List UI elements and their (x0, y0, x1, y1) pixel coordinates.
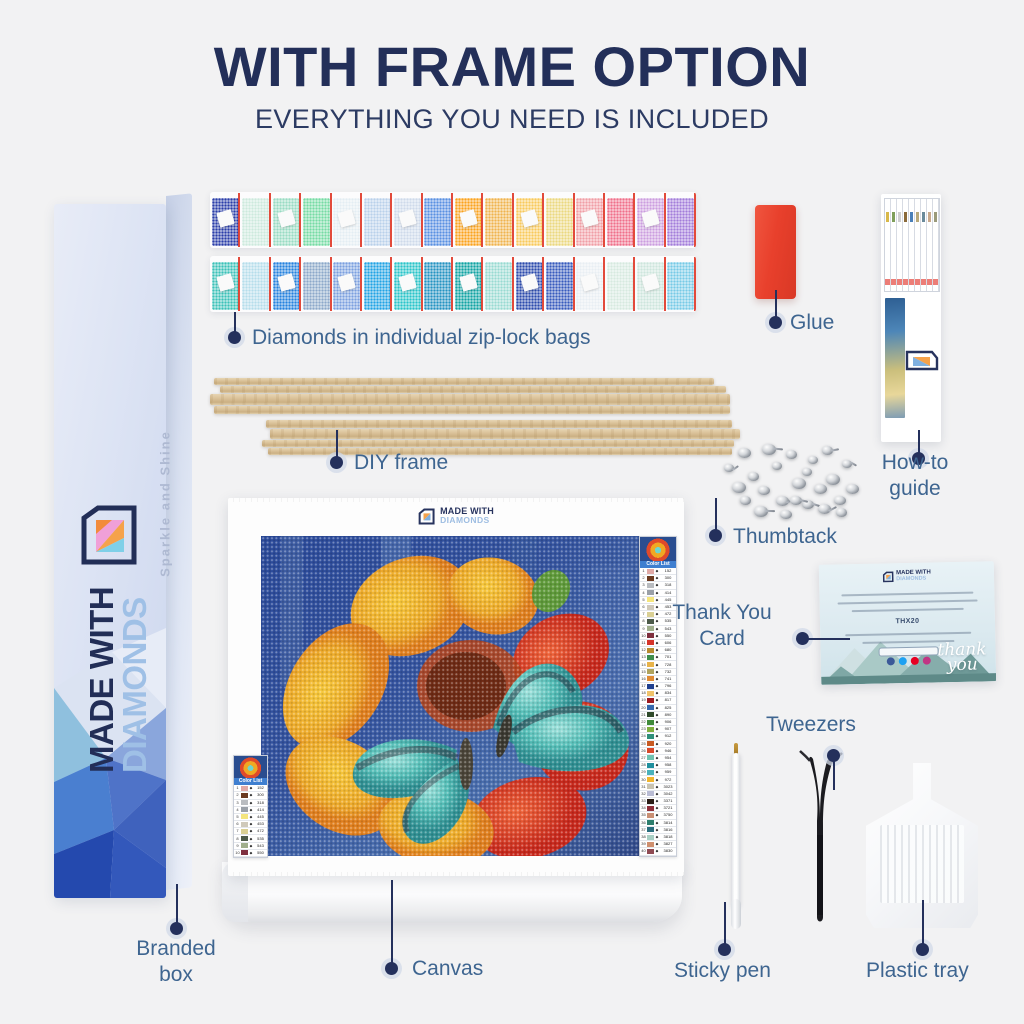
diamond-beads (607, 262, 634, 310)
legend-index: 8 (640, 618, 647, 624)
legend-code: 453 (254, 821, 267, 827)
legend-row: 6◆453 (234, 821, 267, 828)
legend-code: 954 (660, 755, 676, 761)
legend-row: 39◆3827 (640, 841, 676, 848)
legend-index: 17 (640, 683, 647, 689)
legend-code: 825 (660, 705, 676, 711)
box-brand-text: MADE WITH DIAMONDS (85, 204, 151, 773)
legend-swatch (241, 793, 248, 798)
callout-label-sticky-pen: Sticky pen (674, 958, 771, 984)
callout-label-thank-you: Thank You Card (648, 600, 796, 653)
legend-row: 28◆958 (640, 762, 676, 769)
legend-swatch (647, 813, 654, 818)
legend-row: 36◆3814 (640, 820, 676, 827)
legend-code: 817 (660, 697, 676, 703)
legend-index: 15 (640, 669, 647, 675)
legend-swatch (647, 748, 654, 753)
legend-index: 30 (640, 777, 647, 783)
legend-row: 40◆3830 (640, 848, 676, 855)
legend-swatch (647, 849, 654, 854)
legend-swatch (647, 741, 654, 746)
legend-row: 14◆728 (640, 661, 676, 668)
legend-swatch (647, 727, 654, 732)
zip-seal (694, 193, 696, 247)
legend-index: 6 (234, 821, 241, 827)
legend-index: 31 (640, 784, 647, 790)
callout-leader-thank-you (806, 638, 850, 640)
legend-swatch (647, 698, 654, 703)
legend-code: 890 (660, 712, 676, 718)
legend-index: 5 (640, 597, 647, 603)
zip-lock-bag (483, 192, 513, 248)
tweezers (796, 745, 846, 925)
card-logo-icon: MADE WITH DIAMONDS (882, 570, 931, 583)
thumbtack-icon (836, 508, 847, 517)
canvas-artwork (261, 536, 651, 856)
legend-row: 2◆300 (640, 575, 676, 582)
legend-index: 5 (234, 814, 241, 820)
legend-row: 23◆907 (640, 726, 676, 733)
legend-index: 21 (640, 712, 647, 718)
legend-index: 7 (234, 828, 241, 834)
callout-label-tweezers: Tweezers (766, 712, 856, 738)
legend-index: 7 (640, 611, 647, 617)
legend-index: 4 (640, 590, 647, 596)
canvas-item: MADE WITH DIAMONDS (228, 498, 684, 876)
diamond-beads (424, 198, 451, 246)
twitter-icon (898, 657, 906, 665)
zip-lock-bag (666, 192, 696, 248)
legend-code: 3042 (660, 791, 676, 797)
legend-row: 1◆152 (234, 785, 267, 792)
legend-code: 300 (660, 575, 676, 581)
zip-lock-bag (271, 192, 301, 248)
box-brand-line1: MADE WITH (85, 204, 118, 773)
canvas-logo-line2: DIAMONDS (440, 516, 494, 525)
legend-swatch (241, 814, 248, 819)
legend-swatch (647, 842, 654, 847)
legend-index: 12 (640, 647, 647, 653)
zip-seal (694, 257, 696, 311)
legend-row: 7◆472 (234, 828, 267, 835)
diamond-logo-icon (78, 504, 140, 566)
callout-leader-sticky-pen (724, 902, 726, 947)
thumbtack-icon (780, 510, 792, 519)
legend-index: 33 (640, 798, 647, 804)
legend-row: 3◆318 (640, 582, 676, 589)
zip-lock-bag (575, 256, 605, 312)
legend-code: 920 (660, 741, 676, 747)
zip-lock-bag (666, 256, 696, 312)
legend-swatch (241, 807, 248, 812)
legend-row: 32◆3042 (640, 791, 676, 798)
zip-lock-bag (544, 256, 574, 312)
zip-lock-bag (544, 192, 574, 248)
diamond-beads (667, 262, 694, 310)
legend-row: 9◆543 (234, 843, 267, 850)
legend-index: 9 (640, 626, 647, 632)
box-tagline: Sparkle and Shine (158, 409, 173, 599)
legend-row: 25◆920 (640, 741, 676, 748)
zip-lock-bag (332, 256, 362, 312)
callout-label-thumbtack: Thumbtack (733, 524, 837, 550)
legend-swatch (647, 820, 654, 825)
pen-cap (731, 899, 741, 929)
legend-code: 535 (254, 836, 267, 842)
legend-row: 29◆959 (640, 769, 676, 776)
legend-row: 37◆3816 (640, 827, 676, 834)
callout-label-diy-frame: DIY frame (354, 450, 448, 476)
diamond-beads (364, 198, 391, 246)
page-subtitle: EVERYTHING YOU NEED IS INCLUDED (0, 104, 1024, 135)
thumbtack-icon (802, 468, 812, 476)
diamond-beads (667, 198, 694, 246)
legend-row: 19◆817 (640, 697, 676, 704)
legend-row: 16◆741 (640, 676, 676, 683)
zip-lock-bag (453, 192, 483, 248)
legend-row: 27◆954 (640, 755, 676, 762)
zip-lock-bag (605, 256, 635, 312)
legend-code: 152 (660, 568, 676, 574)
zip-lock-bag (240, 192, 270, 248)
zip-lock-bag (483, 256, 513, 312)
legend-index: 39 (640, 841, 647, 847)
zip-lock-bag (362, 192, 392, 248)
thumbtack-icon (846, 484, 859, 494)
legend-row: 24◆912 (640, 733, 676, 740)
legend-code: 946 (660, 748, 676, 754)
legend-index: 34 (640, 805, 647, 811)
diamond-beads (546, 262, 573, 310)
callout-leader-canvas (391, 880, 393, 966)
legend-code: 550 (254, 850, 267, 856)
legend-index: 3 (234, 800, 241, 806)
legend-swatch (647, 734, 654, 739)
diamond-beads (485, 198, 512, 246)
thumbtack-icon (740, 496, 751, 505)
thumbtack-icon (732, 482, 746, 493)
legend-code: 543 (254, 843, 267, 849)
legend-index: 27 (640, 755, 647, 761)
legend-row: 21◆890 (640, 712, 676, 719)
legend-swatch (647, 691, 654, 696)
legend-index: 1 (640, 568, 647, 574)
legend-index: 4 (234, 807, 241, 813)
legend-code: 907 (660, 726, 676, 732)
legend-thumbnail-left (234, 756, 267, 778)
legend-swatch (241, 843, 248, 848)
card-promo-code: THX20 (895, 618, 919, 625)
diamond-beads (364, 262, 391, 310)
legend-row: 20◆825 (640, 705, 676, 712)
legend-row: 18◆834 (640, 690, 676, 697)
zip-lock-bag (210, 192, 240, 248)
instagram-icon (922, 657, 930, 665)
legend-swatch (647, 806, 654, 811)
legend-code: 3371 (660, 798, 676, 804)
legend-row: 31◆3023 (640, 784, 676, 791)
legend-index: 40 (640, 848, 647, 854)
thumbtack-group (718, 438, 858, 530)
legend-code: 3721 (660, 805, 676, 811)
legend-index: 38 (640, 834, 647, 840)
legend-index: 29 (640, 769, 647, 775)
zip-lock-bag (635, 192, 665, 248)
legend-swatch (647, 720, 654, 725)
legend-index: 11 (640, 640, 647, 646)
zip-lock-bag (392, 256, 422, 312)
thumbtack-pin (765, 510, 775, 512)
canvas-logo-icon: MADE WITH DIAMONDS (418, 507, 494, 525)
legend-swatch (647, 669, 654, 674)
legend-row: 10◆550 (234, 850, 267, 857)
legend-code: 3827 (660, 841, 676, 847)
legend-thumbnail (640, 537, 676, 561)
legend-index: 36 (640, 820, 647, 826)
zip-lock-bag (210, 256, 240, 312)
legend-code: 3814 (660, 820, 676, 826)
legend-swatch (647, 763, 654, 768)
legend-swatch (647, 712, 654, 717)
box-front-panel: MADE WITH DIAMONDS (54, 204, 166, 898)
zip-lock-bag (575, 192, 605, 248)
legend-swatch (647, 791, 654, 796)
legend-index: 16 (640, 676, 647, 682)
legend-swatch (647, 676, 654, 681)
zip-lock-bag (514, 192, 544, 248)
legend-title-left: Color List (234, 778, 267, 785)
thumbtack-icon (786, 450, 797, 459)
legend-code: 318 (254, 800, 267, 806)
legend-index: 24 (640, 733, 647, 739)
zip-lock-bag (605, 192, 635, 248)
legend-index: 20 (640, 705, 647, 711)
legend-swatch (241, 800, 248, 805)
legend-row: 35◆3750 (640, 812, 676, 819)
legend-index: 32 (640, 791, 647, 797)
legend-row: 4◆414 (234, 807, 267, 814)
legend-code: 3750 (660, 812, 676, 818)
page-title: WITH FRAME OPTION (0, 34, 1024, 99)
legend-code: 958 (660, 762, 676, 768)
card-social-handle (878, 646, 938, 656)
legend-index: 6 (640, 604, 647, 610)
diamond-beads (242, 198, 269, 246)
thumbtack-icon (808, 456, 818, 464)
legend-swatch (647, 777, 654, 782)
legend-swatch (647, 583, 654, 588)
legend-index: 18 (640, 690, 647, 696)
legend-row: 4◆414 (640, 590, 676, 597)
legend-index: 1 (234, 785, 241, 791)
legend-index: 23 (640, 726, 647, 732)
diamond-beads (242, 262, 269, 310)
branded-box: MADE WITH DIAMONDS Sparkle and Shine (54, 196, 194, 906)
legend-code: 472 (254, 828, 267, 834)
zip-lock-bag-row-1 (210, 192, 696, 248)
pinterest-icon (910, 657, 918, 665)
legend-index: 19 (640, 697, 647, 703)
box-brand-line2: DIAMONDS (118, 204, 151, 773)
legend-row: 5◆445 (234, 814, 267, 821)
legend-index: 14 (640, 662, 647, 668)
legend-swatch (241, 850, 248, 855)
legend-code: 3818 (660, 834, 676, 840)
zip-lock-bag (423, 192, 453, 248)
thumbtack-icon (792, 478, 806, 489)
legend-row: 8◆535 (234, 835, 267, 842)
legend-swatch (647, 576, 654, 581)
legend-index: 2 (234, 792, 241, 798)
zip-lock-bag (240, 256, 270, 312)
guide-logo-icon (911, 342, 933, 378)
thumbtack-icon (814, 484, 827, 494)
butterfly-sunflower-mosaic (261, 536, 651, 856)
diamond-beads (607, 198, 634, 246)
legend-code: 906 (660, 719, 676, 725)
legend-code: 912 (660, 733, 676, 739)
zip-lock-bag (362, 256, 392, 312)
legend-code: 3830 (660, 848, 676, 854)
zip-lock-bag (423, 256, 453, 312)
legend-code: 300 (254, 792, 267, 798)
tray-grooves (880, 825, 964, 903)
legend-code: 3023 (660, 784, 676, 790)
card-social-icons (886, 657, 930, 666)
how-to-guide-booklet (881, 194, 941, 442)
callout-label-glue: Glue (790, 310, 834, 336)
legend-row: 3◆318 (234, 800, 267, 807)
legend-row: 1◆152 (640, 568, 676, 575)
legend-swatch (241, 822, 248, 827)
legend-swatch (647, 784, 654, 789)
zip-lock-bag (514, 256, 544, 312)
legend-swatch (647, 590, 654, 595)
facebook-icon (886, 657, 894, 665)
legend-swatch (647, 755, 654, 760)
legend-index: 2 (640, 575, 647, 581)
diamond-beads (546, 198, 573, 246)
legend-index: 25 (640, 741, 647, 747)
legend-index: 13 (640, 654, 647, 660)
callout-label-branded-box: Branded box (61, 936, 291, 989)
legend-swatch (241, 829, 248, 834)
sticky-pen (731, 741, 741, 927)
callout-leader-plastic-tray (922, 900, 924, 946)
thumbtack-icon (748, 472, 759, 481)
callout-label-plastic-tray: Plastic tray (866, 958, 969, 984)
legend-swatch (647, 684, 654, 689)
glue-item (755, 205, 796, 299)
card-thank-you-script: thank you (937, 642, 987, 673)
legend-row: 17◆796 (640, 683, 676, 690)
zip-lock-bag (453, 256, 483, 312)
legend-index: 3 (640, 582, 647, 588)
zip-lock-bag (392, 192, 422, 248)
zip-lock-bag (301, 256, 331, 312)
legend-code: 741 (660, 676, 676, 682)
legend-swatch (647, 655, 654, 660)
callout-leader-diy-frame (336, 430, 338, 460)
legend-index: 8 (234, 836, 241, 842)
thumbtack-pin (831, 449, 839, 452)
legend-swatch (647, 662, 654, 667)
legend-row: 15◆732 (640, 669, 676, 676)
thank-you-card: MADE WITH DIAMONDS THX20 thank you (819, 561, 996, 685)
legend-code: 959 (660, 769, 676, 775)
thumbtack-icon (834, 496, 846, 505)
legend-swatch (647, 705, 654, 710)
legend-title-right: Color List (640, 561, 676, 568)
callout-label-how-to-guide: How-to guide (840, 450, 990, 503)
guide-cover-image (885, 298, 905, 418)
legend-code: 152 (254, 785, 267, 791)
legend-index: 10 (234, 850, 241, 856)
thumbtack-icon (826, 474, 840, 485)
diamond-beads (485, 262, 512, 310)
legend-code: 445 (254, 814, 267, 820)
legend-index: 22 (640, 719, 647, 725)
legend-code: 701 (660, 654, 676, 660)
legend-row: 13◆701 (640, 654, 676, 661)
legend-code: 796 (660, 683, 676, 689)
legend-code: 414 (660, 590, 676, 596)
legend-row: 38◆3818 (640, 834, 676, 841)
callout-label-canvas: Canvas (412, 956, 483, 982)
callout-label-zip-bags: Diamonds in individual zip-lock bags (252, 325, 591, 351)
zip-lock-bag (271, 256, 301, 312)
legend-row: 26◆946 (640, 748, 676, 755)
legend-code: 3816 (660, 827, 676, 833)
legend-index: 9 (234, 843, 241, 849)
thumbtack-icon (758, 486, 770, 495)
diamond-beads (303, 198, 330, 246)
legend-row: 30◆972 (640, 776, 676, 783)
infographic-root: WITH FRAME OPTION EVERYTHING YOU NEED IS… (0, 0, 1024, 1024)
canvas-color-list-right: Color List 1◆1522◆3003◆3184◆4145◆4456◆45… (639, 536, 677, 857)
legend-swatch (647, 827, 654, 832)
legend-row: 22◆906 (640, 719, 676, 726)
legend-code: 732 (660, 669, 676, 675)
legend-swatch (647, 799, 654, 804)
legend-index: 28 (640, 762, 647, 768)
legend-index: 26 (640, 748, 647, 754)
legend-row: 33◆3371 (640, 798, 676, 805)
callout-leader-thumbtack (715, 498, 717, 532)
guide-color-table (884, 198, 940, 292)
tweezers-shape (796, 745, 846, 925)
legend-index: 10 (640, 633, 647, 639)
legend-swatch (241, 786, 248, 791)
legend-code: 728 (660, 662, 676, 668)
zip-lock-bag (301, 192, 331, 248)
pen-body (732, 753, 740, 908)
zip-lock-bag (635, 256, 665, 312)
thumbtack-icon (772, 462, 782, 470)
callout-leader-glue (775, 290, 777, 320)
legend-code: 414 (254, 807, 267, 813)
legend-swatch (647, 770, 654, 775)
legend-row: 34◆3721 (640, 805, 676, 812)
legend-swatch (647, 569, 654, 574)
card-logo-line2: DIAMONDS (896, 576, 931, 583)
thumbtack-icon (738, 448, 751, 458)
legend-code: 834 (660, 690, 676, 696)
diamond-beads (303, 262, 330, 310)
legend-row: 2◆300 (234, 792, 267, 799)
legend-index: 35 (640, 812, 647, 818)
callout-leader-zip-bags (234, 312, 236, 334)
